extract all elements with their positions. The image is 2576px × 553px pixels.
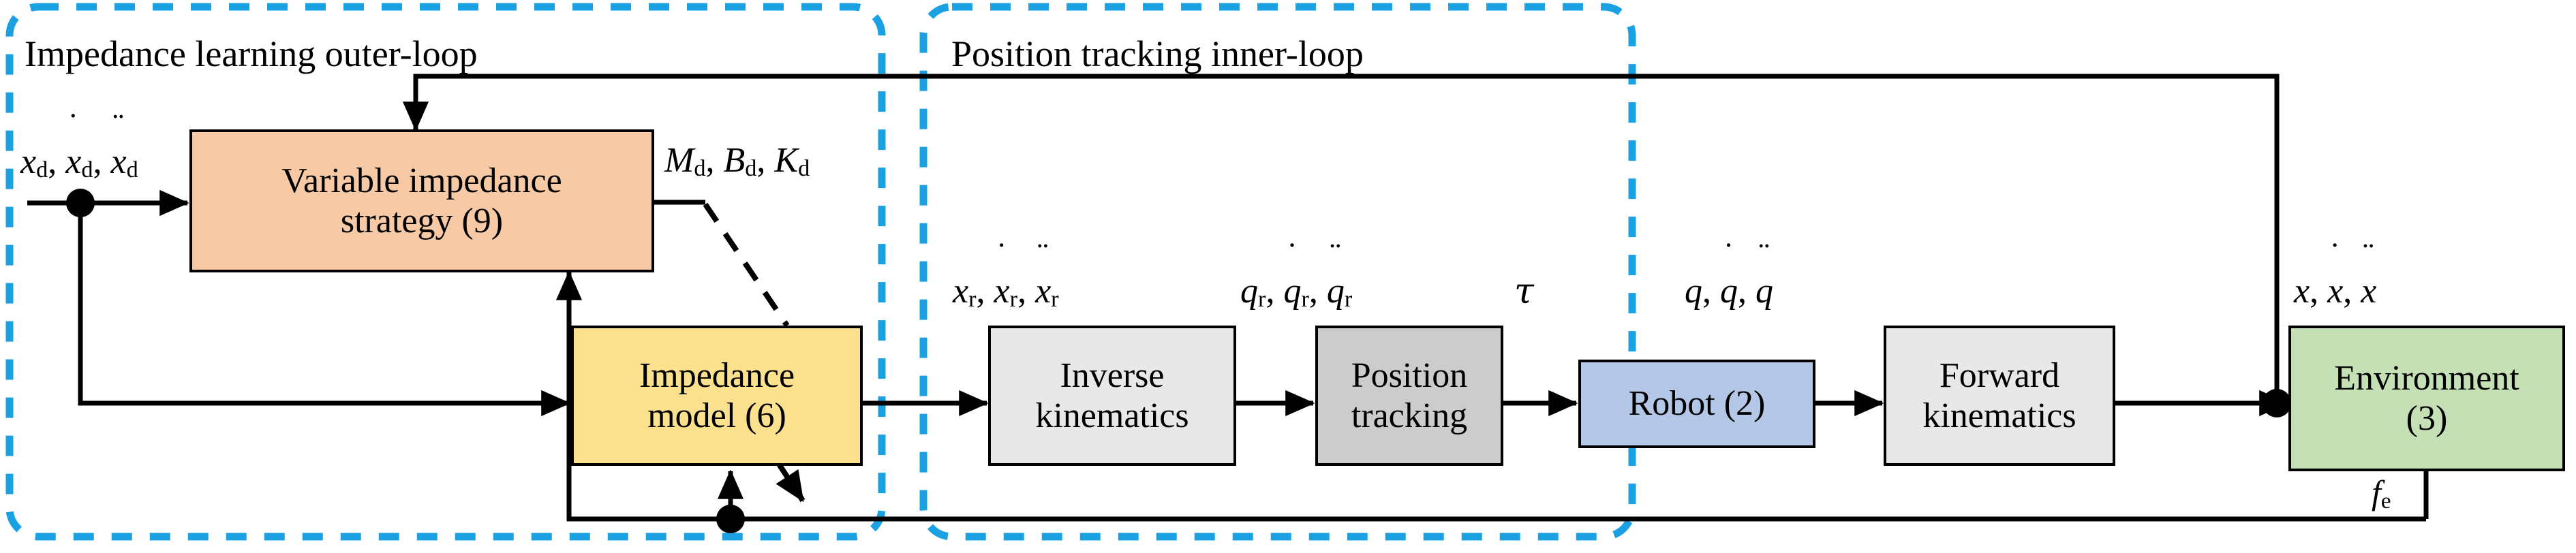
- signal-label-desired-trajectory: xd, ẋd, ẍd: [20, 142, 138, 183]
- block-impedance-model[interactable]: Impedance model (6): [571, 326, 863, 466]
- block-environment-label: Environment (3): [2334, 358, 2519, 439]
- block-forward-kinematics-label: Forward kinematics: [1922, 355, 2076, 437]
- block-position-tracking-label: Position tracking: [1351, 355, 1468, 437]
- signal-label-joint-state: q, q̇, q̈: [1685, 271, 1773, 311]
- outer-loop-title: Impedance learning outer-loop: [25, 33, 478, 75]
- wire-impedance-params-dashed: [705, 204, 787, 326]
- block-variable-impedance-strategy-label: Variable impedance strategy (9): [281, 161, 562, 242]
- block-position-tracking[interactable]: Position tracking: [1315, 326, 1503, 466]
- signal-label-cartesian-state: x, ẋ, ẍ: [2294, 271, 2376, 311]
- signal-label-impedance-parameters: Md, Bd, Kd: [664, 140, 810, 182]
- junction-dot-feedback-bottom: [716, 505, 745, 533]
- signal-label-environment-force: fe: [2372, 473, 2391, 514]
- block-diagram-canvas: Impedance learning outer-loop Position t…: [0, 0, 2576, 553]
- inner-loop-title: Position tracking inner-loop: [951, 33, 1364, 75]
- block-impedance-model-label: Impedance model (6): [639, 355, 795, 437]
- signal-label-torque: 𝜏: [1514, 271, 1534, 312]
- wire-impmodel-dashed-out: [778, 463, 803, 501]
- block-robot[interactable]: Robot (2): [1578, 360, 1815, 448]
- junction-dot-desired: [66, 189, 95, 217]
- block-environment[interactable]: Environment (3): [2288, 326, 2565, 471]
- block-forward-kinematics[interactable]: Forward kinematics: [1884, 326, 2115, 466]
- signal-label-reference-cartesian: xr, ẋr, ẍr: [953, 271, 1059, 313]
- signal-label-reference-joint: qr, q̇r, q̈r: [1240, 271, 1352, 313]
- block-inverse-kinematics-label: Inverse kinematics: [1035, 355, 1189, 437]
- block-variable-impedance-strategy[interactable]: Variable impedance strategy (9): [189, 129, 654, 272]
- junction-dot-cartesian-state: [2263, 389, 2291, 417]
- block-robot-label: Robot (2): [1629, 383, 1766, 424]
- block-inverse-kinematics[interactable]: Inverse kinematics: [988, 326, 1236, 466]
